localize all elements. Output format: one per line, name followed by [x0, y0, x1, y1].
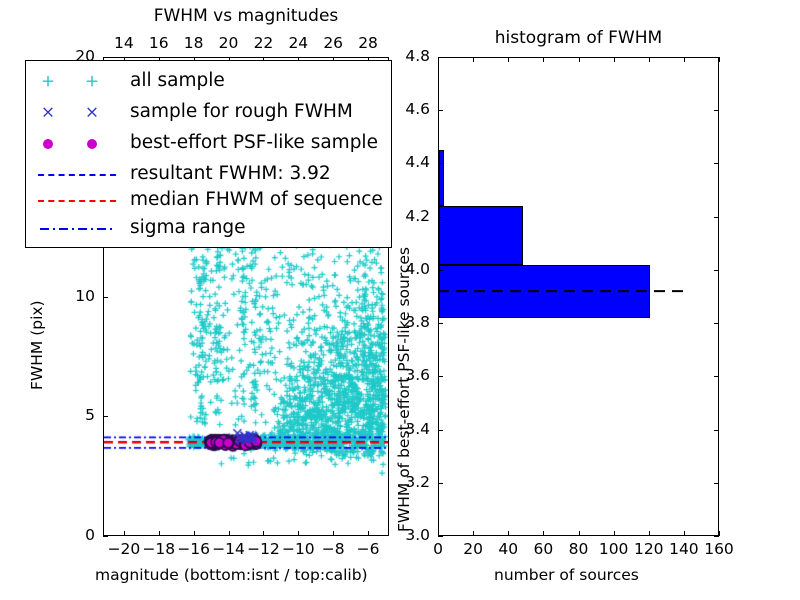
- right-x-tick-label: 60: [534, 542, 554, 558]
- plot-legend: + + all sample × × sample for rough FWHM…: [25, 60, 392, 248]
- right-x-tick-label: 20: [463, 542, 483, 558]
- right-y-tick-mark-mirror: [714, 270, 719, 271]
- right-y-tick-mark: [438, 536, 443, 537]
- right-y-tick-label: 3.2: [405, 475, 430, 491]
- legend-label: resultant FWHM: 3.92: [130, 165, 331, 184]
- legend-label: best-effort PSF-like sample: [130, 134, 378, 153]
- right-y-tick-label: 4.2: [405, 209, 430, 225]
- right-y-tick-label: 4.0: [405, 262, 430, 278]
- right-panel-title: histogram of FWHM: [438, 30, 719, 47]
- left-bottom-tick-mark: [229, 531, 230, 536]
- legend-item[interactable]: sigma range: [26, 213, 391, 244]
- legend-item[interactable]: × × sample for rough FWHM: [26, 97, 391, 128]
- right-x-tick-mark: [684, 531, 685, 536]
- left-bottom-tick-label: −18: [142, 542, 175, 558]
- right-x-tick-label: 140: [669, 542, 699, 558]
- right-x-tick-label: 120: [634, 542, 664, 558]
- right-x-tick-mark: [649, 531, 650, 536]
- right-y-tick-label: 3.8: [405, 315, 430, 331]
- legend-marker-rough-sample: × ×: [26, 97, 130, 128]
- right-y-tick-mark-mirror: [714, 323, 719, 324]
- dashdot-line-icon: [26, 213, 130, 244]
- right-top-tick-mark: [508, 57, 509, 62]
- right-y-tick-mark-mirror: [714, 163, 719, 164]
- legend-label: median FHWM of sequence: [130, 191, 383, 210]
- left-bottom-tick-mark: [368, 531, 369, 536]
- left-top-tick-label: 24: [288, 36, 308, 52]
- right-y-tick-mark: [438, 376, 443, 377]
- left-top-tick-label: 22: [254, 36, 274, 52]
- resultant-fwhm-line: [439, 58, 718, 535]
- right-y-tick-mark: [438, 323, 443, 324]
- right-y-tick-mark-mirror: [714, 536, 719, 537]
- left-panel-title: FWHM vs magnitudes: [103, 8, 389, 25]
- left-y-tick-mark: [103, 536, 108, 537]
- left-bottom-tick-label: −10: [282, 542, 315, 558]
- right-y-tick-label: 4.6: [405, 102, 430, 118]
- right-x-tick-label: 80: [569, 542, 589, 558]
- right-y-tick-mark-mirror: [714, 376, 719, 377]
- histogram-data-area: [439, 58, 718, 535]
- right-x-tick-mark: [473, 531, 474, 536]
- right-top-tick-mark: [543, 57, 544, 62]
- right-y-tick-label: 3.0: [405, 528, 430, 544]
- legend-item[interactable]: best-effort PSF-like sample: [26, 128, 391, 159]
- right-y-tick-mark-mirror: [714, 430, 719, 431]
- plus-icon: +: [85, 73, 99, 90]
- legend-line-sigma: [26, 213, 130, 244]
- left-bottom-tick-label: −8: [322, 542, 345, 558]
- left-bottom-tick-label: −6: [357, 542, 380, 558]
- left-bottom-tick-label: −16: [177, 542, 210, 558]
- left-bottom-tick-mark: [333, 531, 334, 536]
- right-y-tick-mark: [438, 483, 443, 484]
- left-top-tick-label: 28: [358, 36, 378, 52]
- left-bottom-tick-label: −12: [247, 542, 280, 558]
- left-y-tick-mark: [103, 57, 108, 58]
- left-x-axis-label: magnitude (bottom:isnt / top:calib): [95, 568, 368, 584]
- dashed-line-icon: [38, 174, 116, 176]
- left-bottom-tick-mark: [124, 531, 125, 536]
- right-x-tick-label: 0: [433, 542, 443, 558]
- left-top-tick-label: 20: [219, 36, 239, 52]
- left-y-tick-mark: [103, 416, 108, 417]
- left-bottom-tick-mark: [298, 531, 299, 536]
- right-y-tick-mark: [438, 110, 443, 111]
- right-x-tick-mark: [719, 531, 720, 536]
- left-y-tick-label: 0: [85, 528, 95, 544]
- left-y-tick-label: 10: [75, 289, 95, 305]
- cross-icon: ×: [85, 104, 99, 121]
- plus-icon: +: [41, 73, 55, 90]
- right-top-tick-mark: [649, 57, 650, 62]
- legend-marker-all-sample: + +: [26, 66, 130, 97]
- left-bottom-tick-mark: [263, 531, 264, 536]
- legend-label: sigma range: [130, 219, 246, 238]
- filled-circle-icon: [43, 139, 53, 149]
- dashed-line-icon: [38, 200, 116, 202]
- right-x-axis-label: number of sources: [494, 568, 639, 584]
- left-top-tick-label: 14: [114, 36, 134, 52]
- legend-item[interactable]: median FHWM of sequence: [26, 185, 391, 216]
- right-top-tick-mark: [684, 57, 685, 62]
- right-y-tick-mark: [438, 430, 443, 431]
- right-top-tick-mark: [614, 57, 615, 62]
- left-bottom-tick-label: −20: [108, 542, 141, 558]
- right-top-tick-mark: [473, 57, 474, 62]
- right-y-tick-mark-mirror: [714, 483, 719, 484]
- left-bottom-tick-mark: [194, 531, 195, 536]
- left-top-tick-label: 26: [323, 36, 343, 52]
- left-y-tick-mark: [103, 297, 108, 298]
- right-y-tick-label: 4.4: [405, 155, 430, 171]
- right-y-tick-mark-mirror: [714, 110, 719, 111]
- figure-canvas: FWHM vs magnitudes FWHM (pix) magnitude …: [0, 0, 800, 600]
- right-y-tick-mark: [438, 217, 443, 218]
- left-y-tick-label: 5: [85, 408, 95, 424]
- legend-line-median: [26, 185, 130, 216]
- right-y-tick-label: 4.8: [405, 49, 430, 65]
- filled-circle-icon: [87, 139, 97, 149]
- right-x-tick-mark: [614, 531, 615, 536]
- legend-item[interactable]: + + all sample: [26, 66, 391, 97]
- left-top-tick-label: 18: [184, 36, 204, 52]
- right-x-tick-label: 160: [704, 542, 734, 558]
- right-y-tick-label: 3.4: [405, 422, 430, 438]
- legend-label: all sample: [130, 72, 225, 91]
- right-top-tick-mark: [719, 57, 720, 62]
- right-x-tick-mark: [579, 531, 580, 536]
- right-y-tick-mark: [438, 163, 443, 164]
- left-bottom-tick-mark: [159, 531, 160, 536]
- left-bottom-tick-label: −14: [212, 542, 245, 558]
- legend-label: sample for rough FWHM: [130, 103, 353, 122]
- right-y-tick-label: 3.6: [405, 368, 430, 384]
- right-x-tick-label: 100: [599, 542, 629, 558]
- right-x-tick-mark: [543, 531, 544, 536]
- right-top-tick-mark: [579, 57, 580, 62]
- right-y-tick-mark: [438, 270, 443, 271]
- left-top-tick-label: 16: [149, 36, 169, 52]
- right-top-tick-mark: [438, 57, 439, 62]
- cross-icon: ×: [41, 104, 55, 121]
- left-y-axis-label: FWHM (pix): [30, 300, 46, 390]
- right-x-tick-mark: [508, 531, 509, 536]
- right-x-tick-label: 40: [498, 542, 518, 558]
- legend-marker-psf-sample: [26, 128, 130, 159]
- right-y-tick-mark-mirror: [714, 217, 719, 218]
